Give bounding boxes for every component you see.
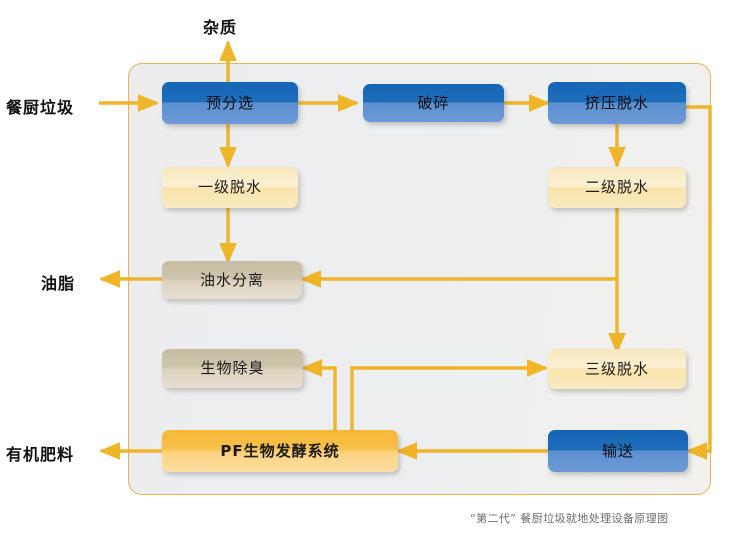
- node-crushing[interactable]: 破碎: [363, 84, 504, 122]
- node-dewater-stage-3[interactable]: 三级脱水: [548, 349, 686, 389]
- node-conveying[interactable]: 输送: [548, 430, 688, 472]
- edge-pf-to-dewater3: [352, 368, 546, 430]
- node-oil-water-separation[interactable]: 油水分离: [162, 261, 302, 299]
- io-label-fertilizer: 有机肥料: [6, 441, 74, 465]
- edge-squeeze-to-conveying: [686, 107, 710, 451]
- node-squeeze-dewater[interactable]: 挤压脱水: [548, 82, 686, 124]
- edge-pf-to-deodorize: [303, 368, 335, 430]
- diagram-caption: “第二代” 餐厨垃圾就地处理设备原理图: [470, 510, 710, 526]
- node-dewater-stage-1[interactable]: 一级脱水: [162, 167, 298, 208]
- io-label-grease: 油脂: [41, 270, 75, 294]
- edge-dewater2-to-oil-sep: [302, 208, 617, 279]
- node-bio-deodorization[interactable]: 生物除臭: [162, 349, 303, 388]
- diagram-canvas: 餐厨垃圾 杂质 油脂 有机肥料 预分选 破碎 挤压脱水 一级脱水 二级脱水 油水…: [0, 0, 752, 548]
- io-label-food-waste: 餐厨垃圾: [6, 94, 74, 118]
- node-pre-sorting[interactable]: 预分选: [162, 82, 298, 124]
- io-label-impurity: 杂质: [203, 14, 237, 38]
- node-dewater-stage-2[interactable]: 二级脱水: [548, 167, 686, 208]
- node-pf-fermentation-system[interactable]: PF生物发酵系统: [162, 430, 398, 472]
